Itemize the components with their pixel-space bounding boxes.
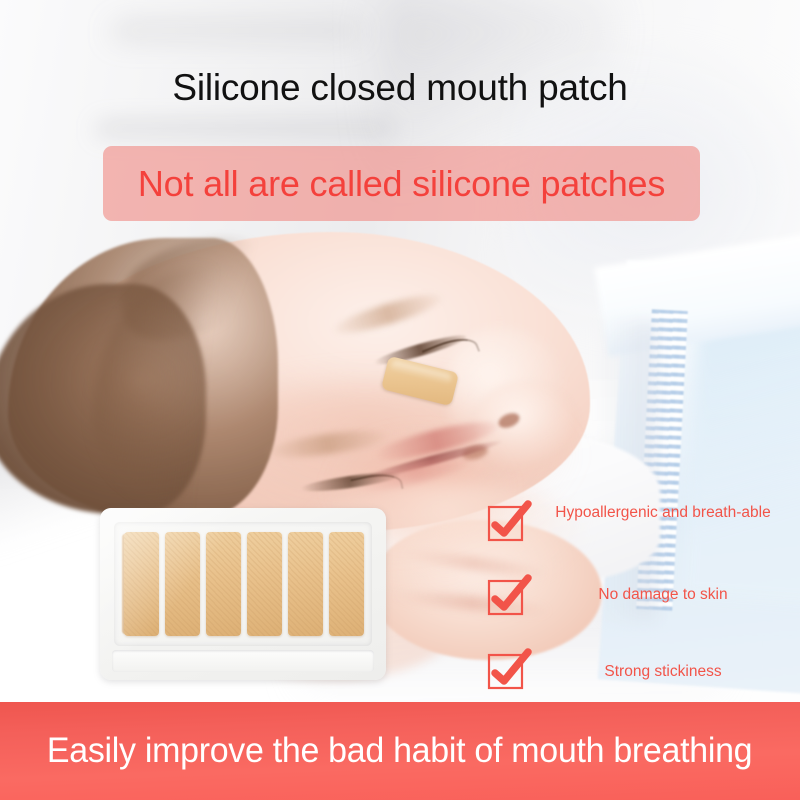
patch-strip — [124, 532, 159, 636]
subtitle-banner: Not all are called silicone patches — [103, 146, 700, 221]
backdrop-blur-band-top — [110, 22, 360, 48]
checkbox-checked-icon — [487, 574, 531, 618]
product-package-inset — [100, 508, 386, 680]
feature-item: Hypoallergenic and breath-able — [487, 500, 787, 544]
patch-strip — [288, 532, 323, 636]
checkbox-checked-icon — [487, 648, 531, 692]
feature-item: No damage to skin — [487, 574, 787, 618]
feature-item: Strong stickiness — [487, 648, 787, 692]
patch-strip — [165, 532, 200, 636]
feature-label: Strong stickiness — [531, 648, 787, 682]
page-title: Silicone closed mouth patch — [0, 66, 800, 110]
patch-strip — [329, 532, 364, 636]
subtitle-text: Not all are called silicone patches — [138, 163, 665, 205]
feature-label: Hypoallergenic and breath-able — [531, 500, 787, 523]
patch-strip-group — [124, 532, 364, 636]
patch-strip — [247, 532, 282, 636]
feature-list: Hypoallergenic and breath-able No damage… — [487, 500, 787, 692]
feature-label: No damage to skin — [531, 574, 787, 605]
footer-banner-text: Easily improve the bad habit of mouth br… — [47, 730, 752, 772]
product-poster: Silicone closed mouth patch Not all are … — [0, 0, 800, 800]
checkbox-checked-icon — [487, 500, 531, 544]
footer-banner: Easily improve the bad habit of mouth br… — [0, 702, 800, 800]
patch-strip — [206, 532, 241, 636]
backdrop-blur-band-mid — [95, 122, 395, 142]
package-seal — [112, 650, 374, 672]
